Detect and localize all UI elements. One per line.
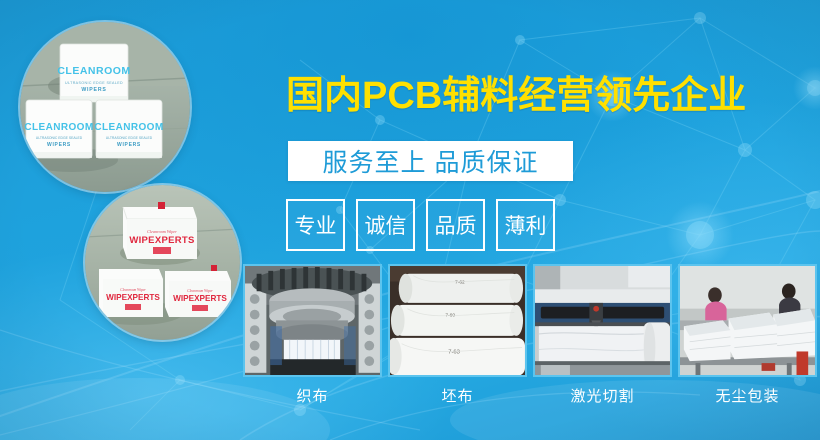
feature-tag-integrity: 诚信 [356,199,415,251]
promo-banner: CLEANROOM ULTRASONIC EDGE SEALED WIPERS … [0,0,820,440]
svg-text:CLEANROOM: CLEANROOM [24,122,93,133]
svg-text:WIPEXPERTS: WIPEXPERTS [106,293,160,302]
process-photo-laser-cutting [533,264,672,377]
svg-text:WIPEXPERTS: WIPEXPERTS [173,294,227,303]
banner-subtitle-text: 服务至上 品质保证 [323,143,539,179]
feature-tag-label: 薄利 [505,210,547,240]
banner-headline: 国内PCB辅料经营领先企业 [286,74,786,118]
feature-tag-professional: 专业 [286,199,345,251]
feature-tag-label: 专业 [295,210,337,240]
process-photo-cell-laser: 激光切割 [533,264,672,406]
feature-tag-low-margin: 薄利 [496,199,555,251]
svg-text:7-63: 7-63 [448,349,460,355]
svg-text:WIPEXPERTS: WIPEXPERTS [129,235,194,246]
feature-tag-label: 品质 [435,210,477,240]
svg-text:Cleanroom Wiper: Cleanroom Wiper [147,229,177,234]
svg-text:ULTRASONIC EDGE SEALED: ULTRASONIC EDGE SEALED [106,136,153,140]
svg-text:Cleanroom Wiper: Cleanroom Wiper [120,288,146,292]
process-photo-greige-fabric: 7-62 7-60 7-63 [388,264,527,377]
svg-text:ULTRASONIC EDGE SEALED: ULTRASONIC EDGE SEALED [65,81,123,85]
svg-text:Cleanroom Wiper: Cleanroom Wiper [187,289,213,293]
process-caption: 坯布 [388,385,527,406]
process-photo-cell-greige: 7-62 7-60 7-63 [388,264,527,406]
process-photo-cleanroom-packaging [678,264,817,377]
process-caption: 织布 [243,385,382,406]
feature-tag-label: 诚信 [365,210,407,240]
svg-text:CLEANROOM: CLEANROOM [94,122,163,133]
svg-text:7-62: 7-62 [455,279,465,285]
svg-text:WIPERS: WIPERS [47,142,71,148]
process-photo-strip: 织布 7-62 [243,264,813,406]
process-caption: 激光切割 [533,385,672,406]
svg-text:ULTRASONIC EDGE SEALED: ULTRASONIC EDGE SEALED [36,136,83,140]
process-photo-weaving [243,264,382,377]
svg-text:WIPERS: WIPERS [81,87,106,93]
svg-text:CLEANROOM: CLEANROOM [57,65,130,77]
process-photo-cell-packaging: 无尘包装 [678,264,817,406]
feature-tag-quality: 品质 [426,199,485,251]
banner-subtitle-bar: 服务至上 品质保证 [288,141,573,181]
svg-text:WIPERS: WIPERS [117,142,141,148]
process-photo-cell-weaving: 织布 [243,264,382,406]
process-caption: 无尘包装 [678,385,817,406]
feature-tag-row: 专业 诚信 品质 薄利 [286,199,555,251]
circle-photo-wipexperts: Cleanroom Wiper WIPEXPERTS Cleanroom Wip… [85,185,240,340]
circle-photo-cleanroom-wipers: CLEANROOM ULTRASONIC EDGE SEALED WIPERS … [20,22,190,192]
